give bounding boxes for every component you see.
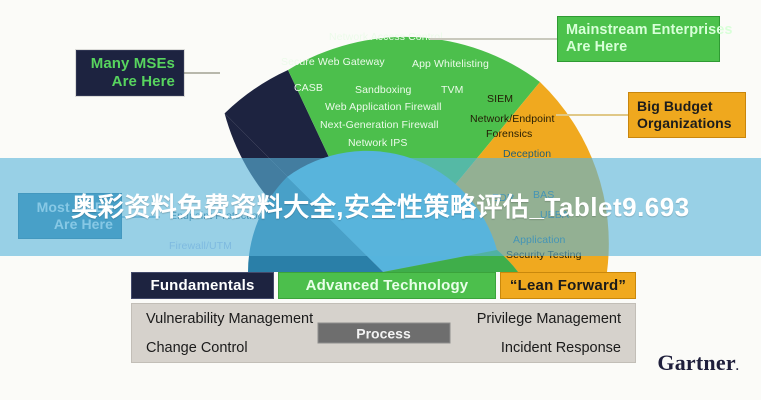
callout-big-budget-line2: Organizations xyxy=(637,115,737,132)
fan-label-tvm: TVM xyxy=(441,84,463,96)
fan-label-bas: BAS xyxy=(533,189,554,201)
callout-mainstream-line1: Mainstream Enterprises xyxy=(566,22,711,39)
fan-label-next-generation-firewall: Next-Generation Firewall xyxy=(320,119,439,131)
callout-big-budget-organizations: Big Budget Organizations xyxy=(628,92,746,138)
fan-label-sandboxing: Sandboxing xyxy=(355,84,411,96)
process-label-incident-response: Incident Response xyxy=(501,340,621,356)
fan-label-security-testing: Security Testing xyxy=(506,249,582,261)
process-label-privilege-management: Privilege Management xyxy=(477,311,621,327)
band-cell-advanced-technology: Advanced Technology xyxy=(278,272,496,299)
leader-line-most-smbs xyxy=(122,216,160,218)
process-block: Vulnerability Management Privilege Manag… xyxy=(131,303,636,363)
fan-label-forensics: Forensics xyxy=(486,128,532,140)
callout-mainstream-line2: Are Here xyxy=(566,39,711,56)
process-label-vulnerability-management: Vulnerability Management xyxy=(146,311,313,327)
fan-label-network-ips: Network IPS xyxy=(348,137,407,149)
fan-label-app-whitelisting: App Whitelisting xyxy=(412,58,489,70)
maturity-band: Fundamentals Advanced Technology “Lean F… xyxy=(131,272,636,299)
band-cell-lean-forward: “Lean Forward” xyxy=(500,272,636,299)
fan-label-firewall-utm: Firewall/UTM xyxy=(169,240,232,252)
process-label-change-control: Change Control xyxy=(146,340,248,356)
callout-many-mses: Many MSEs Are Here xyxy=(76,50,184,96)
callout-most-smbs-line2: Are Here xyxy=(27,216,113,233)
fan-label-network-access-control: Network Access Control xyxy=(329,31,443,43)
leader-line-mainstream xyxy=(430,38,558,40)
fan-label-ueba: UEBA xyxy=(540,209,569,221)
diagram-canvas: Network Access Control Secure Web Gatewa… xyxy=(0,0,761,400)
fan-label-endpoint-protection: Endpoint Protection xyxy=(170,210,264,222)
callout-many-mses-line1: Many MSEs xyxy=(85,55,175,73)
process-pill: Process xyxy=(317,323,450,344)
callout-most-smbs: Most SMBs Are Here xyxy=(18,193,122,239)
fan-label-deception: Deception xyxy=(503,148,551,160)
fan-label-casb: CASB xyxy=(294,82,323,94)
leader-line-big-budget xyxy=(556,114,629,116)
leader-line-many-mses xyxy=(184,72,220,74)
fan-label-edr: EDR xyxy=(492,192,514,204)
fan-label-secure-web-gateway: Secure Web Gateway xyxy=(281,56,385,68)
gartner-wordmark: Gartner xyxy=(657,350,735,375)
band-cell-fundamentals: Fundamentals xyxy=(131,272,274,299)
callout-most-smbs-line1: Most SMBs xyxy=(27,199,113,216)
fan-label-web-application-firewall: Web Application Firewall xyxy=(325,101,442,113)
gartner-registered-mark: . xyxy=(736,359,739,373)
fan-label-network-endpoint: Network/Endpoint xyxy=(470,113,554,125)
fan-label-siem: SIEM xyxy=(487,93,513,105)
callout-many-mses-line2: Are Here xyxy=(85,73,175,91)
gartner-logo: Gartner. xyxy=(657,350,739,376)
callout-mainstream-enterprises: Mainstream Enterprises Are Here xyxy=(557,16,720,62)
callout-big-budget-line1: Big Budget xyxy=(637,98,737,115)
fan-label-application: Application xyxy=(513,234,565,246)
